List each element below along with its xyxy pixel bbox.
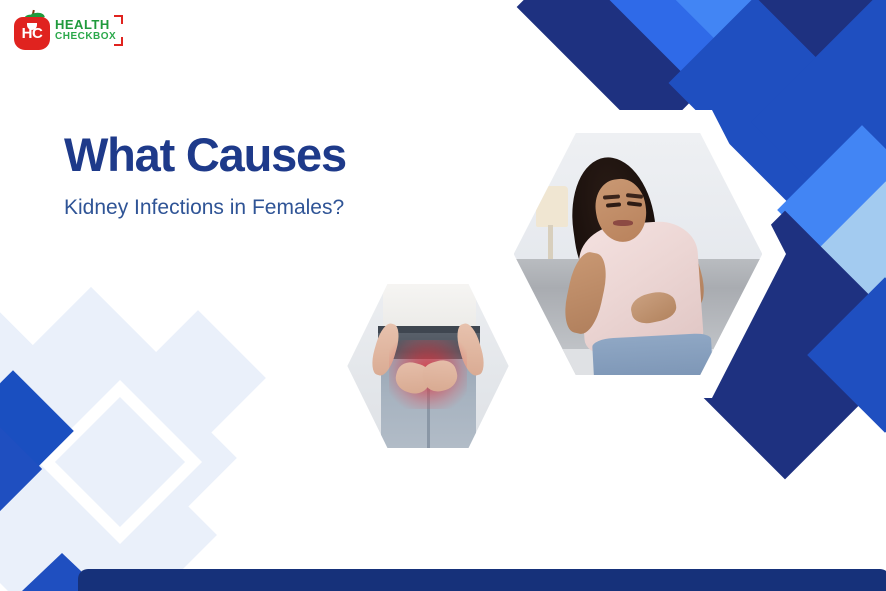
photo-lamp-stem [548,225,553,259]
apple-checkbox-logo-icon: HC [14,10,50,50]
brand-wordmark: HEALTH CHECKBOX [55,16,123,45]
lower-abdomen-pain-photo [332,268,524,464]
accent-diamond-1 [0,414,42,524]
photo-scene-small [347,284,508,449]
brand-name-line2: CHECKBOX [55,31,116,43]
hexagon-photo-small [347,284,508,449]
accent-diamond-5 [665,0,886,109]
pale-diamond-4 [130,310,266,446]
accent-diamond-0 [0,370,74,492]
headline-block: What Causes Kidney Infections in Females… [64,128,464,221]
bottom-bar [78,569,886,591]
photo-lamp [536,186,568,227]
accent-diamond-12 [807,277,886,433]
pale-outline-diamond-0 [38,380,202,544]
page-subtitle: Kidney Infections in Females? [64,194,464,221]
accent-diamond-10 [811,171,886,341]
page-title: What Causes [64,128,464,182]
pale-diamond-1 [67,373,237,543]
bracket-bottom-right-icon [114,37,123,46]
woman-with-side-pain-photo [490,110,786,398]
banner-root: HC HEALTH CHECKBOX What Causes Kidney In… [0,0,886,591]
hexagon-frame-small [332,268,524,464]
hexagon-frame-large [490,110,786,398]
photo-scene-large [514,133,763,375]
accent-diamond-7 [719,0,886,101]
pale-diamond-5 [0,307,73,463]
accent-diamond-3 [572,0,821,86]
logo-initials: HC [14,17,50,50]
accent-diamond-9 [777,125,886,295]
hexagon-photo-large [514,133,763,375]
brand-logo[interactable]: HC HEALTH CHECKBOX [14,10,123,50]
photo-jeans [592,333,713,375]
photo-mouth [613,220,633,226]
pale-diamond-0 [0,287,197,499]
brand-name-line1: HEALTH [55,18,116,31]
bracket-top-right-icon [114,15,123,24]
